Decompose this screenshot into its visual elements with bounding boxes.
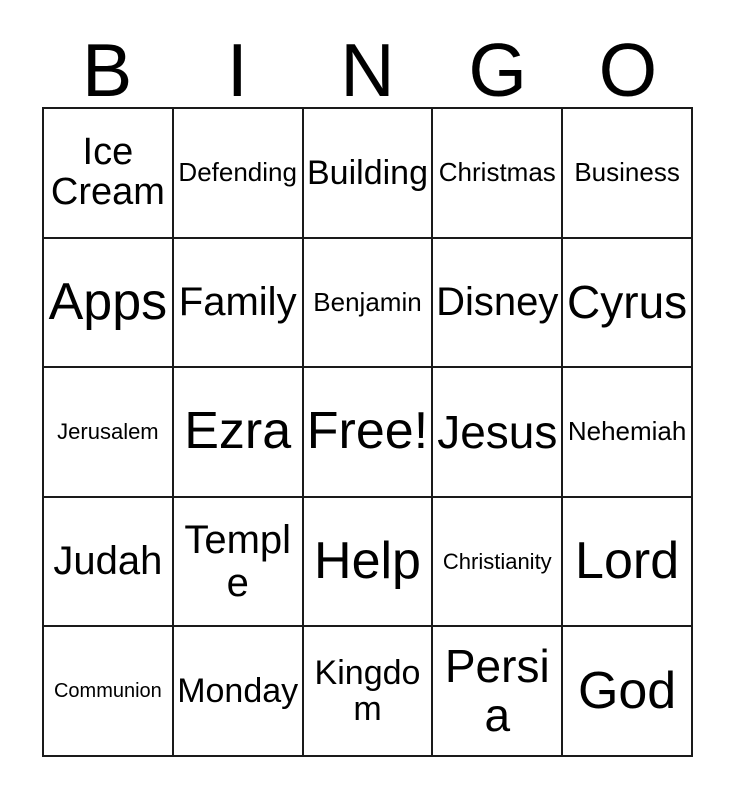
bingo-header-letter-o: O (563, 24, 693, 102)
bingo-cell-label: Christianity (435, 550, 559, 573)
bingo-cell-label: Judah (46, 540, 170, 582)
bingo-cell-label: Help (306, 534, 430, 589)
bingo-cell-label: Apps (46, 275, 170, 330)
bingo-cell-o3[interactable]: Nehemiah (563, 368, 693, 498)
bingo-cell-n4[interactable]: Help (304, 498, 434, 628)
bingo-cell-label: Business (565, 159, 689, 187)
bingo-card: B I N G O Ice Cream Defending Building C… (0, 0, 736, 800)
bingo-cell-i4[interactable]: Temple (174, 498, 304, 628)
bingo-cell-g1[interactable]: Christmas (433, 109, 563, 239)
bingo-cell-label: Temple (176, 519, 300, 604)
bingo-free-space-label: Free! (306, 404, 430, 459)
bingo-header-letter-n: N (302, 24, 432, 102)
bingo-header: B I N G O (42, 24, 693, 102)
bingo-cell-label: Family (176, 281, 300, 323)
bingo-cell-label: Persia (435, 642, 559, 740)
bingo-grid: Ice Cream Defending Building Christmas B… (42, 107, 693, 757)
bingo-cell-i3[interactable]: Ezra (174, 368, 304, 498)
bingo-cell-i2[interactable]: Family (174, 239, 304, 369)
bingo-cell-g5[interactable]: Persia (433, 627, 563, 757)
bingo-cell-label: Benjamin (306, 289, 430, 317)
bingo-cell-g4[interactable]: Christianity (433, 498, 563, 628)
bingo-cell-label: Cyrus (565, 278, 689, 327)
bingo-cell-n5[interactable]: Kingdom (304, 627, 434, 757)
bingo-cell-i5[interactable]: Monday (174, 627, 304, 757)
bingo-cell-o5[interactable]: God (563, 627, 693, 757)
bingo-cell-o4[interactable]: Lord (563, 498, 693, 628)
bingo-cell-label: Nehemiah (565, 418, 689, 446)
bingo-cell-o2[interactable]: Cyrus (563, 239, 693, 369)
bingo-cell-label: Ice Cream (46, 133, 170, 212)
bingo-cell-g3[interactable]: Jesus (433, 368, 563, 498)
bingo-cell-o1[interactable]: Business (563, 109, 693, 239)
bingo-cell-b1[interactable]: Ice Cream (44, 109, 174, 239)
bingo-cell-label: Monday (176, 673, 300, 709)
bingo-cell-label: Kingdom (306, 655, 430, 727)
bingo-cell-b2[interactable]: Apps (44, 239, 174, 369)
bingo-cell-g2[interactable]: Disney (433, 239, 563, 369)
bingo-cell-label: Communion (46, 681, 170, 702)
bingo-cell-label: Ezra (176, 404, 300, 459)
bingo-cell-label: Christmas (435, 159, 559, 187)
bingo-cell-label: Jesus (435, 408, 559, 457)
bingo-cell-label: God (565, 664, 689, 719)
bingo-cell-i1[interactable]: Defending (174, 109, 304, 239)
bingo-cell-n1[interactable]: Building (304, 109, 434, 239)
bingo-cell-label: Building (306, 155, 430, 191)
bingo-header-letter-g: G (433, 24, 563, 102)
bingo-cell-b5[interactable]: Communion (44, 627, 174, 757)
bingo-cell-b3[interactable]: Jerusalem (44, 368, 174, 498)
bingo-cell-n2[interactable]: Benjamin (304, 239, 434, 369)
bingo-header-letter-i: I (172, 24, 302, 102)
bingo-cell-label: Disney (435, 281, 559, 323)
bingo-cell-label: Lord (565, 534, 689, 589)
bingo-cell-b4[interactable]: Judah (44, 498, 174, 628)
bingo-cell-label: Jerusalem (46, 420, 170, 443)
bingo-header-letter-b: B (42, 24, 172, 102)
bingo-cell-free-space[interactable]: Free! (304, 368, 434, 498)
bingo-cell-label: Defending (176, 159, 300, 187)
